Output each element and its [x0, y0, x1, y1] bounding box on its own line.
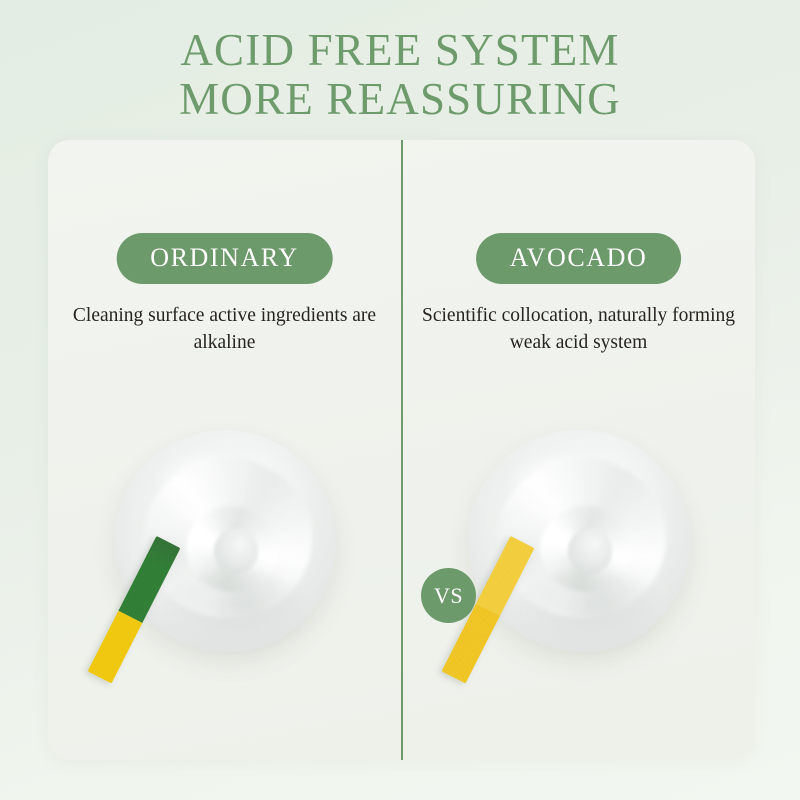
page-title-line-1: ACID FREE SYSTEM — [0, 26, 800, 75]
foam-swirl-core — [568, 528, 612, 574]
vs-label: VS — [434, 585, 463, 607]
foam-shading — [160, 570, 310, 654]
badge-avocado[interactable]: AVOCADO — [476, 233, 682, 284]
badge-ordinary[interactable]: ORDINARY — [116, 233, 333, 284]
vs-badge: VS — [421, 568, 476, 623]
comparison-card: ORDINARY Cleaning surface active ingredi… — [48, 140, 755, 760]
description-avocado: Scientific collocation, naturally formin… — [419, 303, 739, 357]
foam-shading — [514, 570, 664, 654]
page-title: ACID FREE SYSTEM MORE REASSURING — [0, 26, 800, 123]
foam-swirl-core — [214, 528, 258, 574]
comparison-column-ordinary: ORDINARY Cleaning surface active ingredi… — [48, 140, 401, 760]
foam-blob-avocado — [468, 430, 690, 652]
product-image-avocado — [459, 422, 699, 702]
product-image-ordinary — [105, 422, 345, 702]
page-title-line-2: MORE REASSURING — [0, 75, 800, 124]
comparison-column-avocado: AVOCADO Scientific collocation, naturall… — [402, 140, 755, 760]
foam-blob-ordinary — [114, 430, 336, 652]
description-ordinary: Cleaning surface active ingredients are … — [65, 303, 385, 357]
